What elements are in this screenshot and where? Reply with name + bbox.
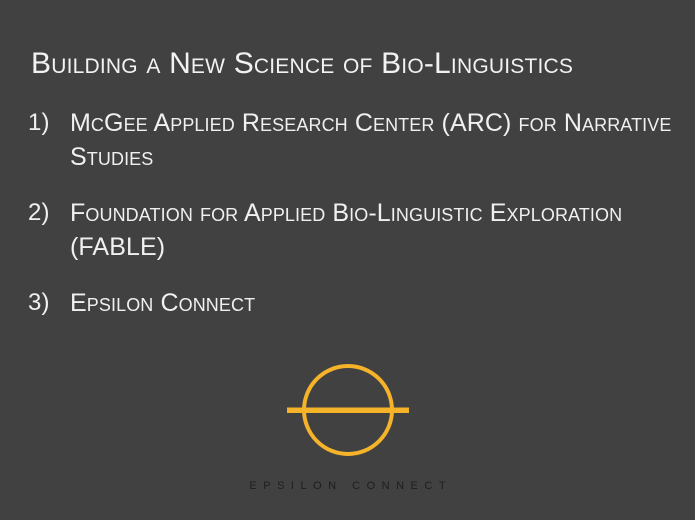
logo-caption: EPSILON CONNECT xyxy=(243,480,452,493)
list-item-marker: 3) xyxy=(28,286,70,320)
list-item: 1) McGee Applied Research Center (ARC) f… xyxy=(28,106,678,174)
list-item-marker: 1) xyxy=(28,106,70,140)
epsilon-connect-logo-icon xyxy=(287,362,409,458)
list-item-label: Foundation for Applied Bio-Linguistic Ex… xyxy=(70,196,678,264)
slide-title: Building a New Science of Bio-Linguistic… xyxy=(31,46,671,82)
presentation-slide: Building a New Science of Bio-Linguistic… xyxy=(0,0,695,520)
list-item-label: Epsilon Connect xyxy=(70,286,678,320)
list-item-marker: 2) xyxy=(28,196,70,230)
list-item-label: McGee Applied Research Center (ARC) for … xyxy=(70,106,678,174)
numbered-list: 1) McGee Applied Research Center (ARC) f… xyxy=(28,106,678,320)
list-item: 3) Epsilon Connect xyxy=(28,286,678,320)
list-item: 2) Foundation for Applied Bio-Linguistic… xyxy=(28,196,678,264)
logo-block: EPSILON CONNECT xyxy=(0,362,695,493)
